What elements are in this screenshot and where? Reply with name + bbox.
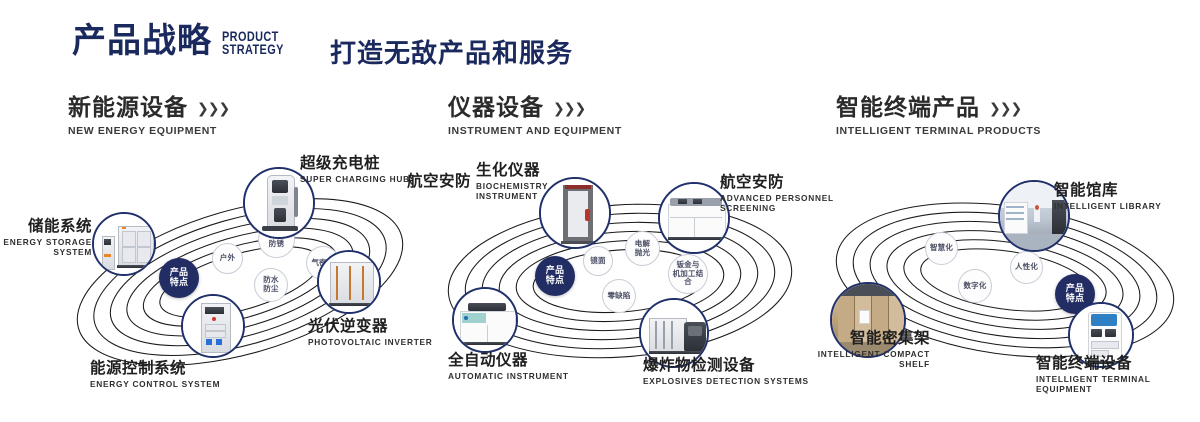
- chevron-right-icon: ❯❯❯: [989, 101, 1021, 115]
- chevron-right-icon: ❯❯❯: [197, 101, 229, 115]
- feature-bubble: 人性化: [1010, 251, 1043, 284]
- caption-energy-control-system: 能源控制系统 ENERGY CONTROL SYSTEM: [90, 360, 220, 389]
- caption-en: ENERGY CONTROL SYSTEM: [90, 379, 220, 389]
- feature-core-bubble: 产品 特点: [159, 258, 199, 298]
- section-title-en: INTELLIGENT TERMINAL PRODUCTS: [836, 125, 1041, 137]
- caption-en: INTELLIGENT COMPACT SHELF: [790, 349, 930, 369]
- section-title-cn: 新能源设备: [68, 96, 188, 120]
- node-energy-control-system[interactable]: [181, 294, 245, 358]
- caption-energy-storage: 储能系统 ENERGY STORAGE SYSTEM: [0, 218, 92, 257]
- caption-cn: 智能馆库: [1054, 182, 1162, 199]
- caption-cn: 生化仪器: [476, 162, 548, 179]
- feature-bubble: 零缺陷: [602, 279, 636, 313]
- feature-bubble: 户外: [212, 243, 243, 274]
- caption-super-charging-hub: 超级充电桩 SUPER CHARGING HUB: [300, 155, 410, 184]
- caption-cn: 储能系统: [0, 218, 92, 235]
- caption-intelligent-terminal-equipment: 智能终端设备 INTELLIGENT TERMINAL EQUIPMENT: [1036, 355, 1200, 394]
- node-photovoltaic-inverter[interactable]: [317, 250, 381, 314]
- poster-canvas: 产品战略 PRODUCT STRATEGY 打造无敌产品和服务 新能源设备 ❯❯…: [0, 0, 1200, 422]
- caption-cn: 智能终端设备: [1036, 355, 1200, 372]
- caption-cn: 光伏逆变器: [308, 318, 433, 335]
- feature-bubble: 电解 抛光: [625, 231, 660, 266]
- caption-cn: 超级充电桩: [300, 155, 410, 172]
- caption-en: INTELLIGENT TERMINAL EQUIPMENT: [1036, 374, 1200, 394]
- feature-bubble: 数字化: [958, 269, 992, 303]
- feature-bubble: 钣金与 机加工结合: [668, 254, 708, 294]
- caption-en: AUTOMATIC INSTRUMENT: [448, 371, 569, 381]
- caption-automatic-instrument: 全自动仪器 AUTOMATIC INSTRUMENT: [448, 352, 569, 381]
- screening-machine-icon: [660, 184, 728, 252]
- caption-intelligent-library: 智能馆库 INTELLIGENT LIBRARY: [1054, 182, 1162, 211]
- caption-en: SUPER CHARGING HUB: [300, 174, 410, 184]
- caption-en: ENERGY STORAGE SYSTEM: [0, 237, 92, 257]
- section-title-cn: 仪器设备: [448, 96, 544, 120]
- poster-header: 产品战略 PRODUCT STRATEGY: [72, 24, 301, 58]
- node-biochemistry-instrument[interactable]: [539, 177, 611, 249]
- feature-bubble: 智慧化: [925, 232, 958, 265]
- caption-cn: 爆炸物检测设备: [643, 357, 809, 374]
- caption-explosives-detection: 爆炸物检测设备 EXPLOSIVES DETECTION SYSTEMS: [643, 357, 809, 386]
- section-title-en: NEW ENERGY EQUIPMENT: [68, 125, 229, 137]
- caption-en: EXPLOSIVES DETECTION SYSTEMS: [643, 376, 809, 386]
- security-scanner-icon: [541, 179, 609, 247]
- caption-photovoltaic-inverter: 光伏逆变器 PHOTOVOLTAIC INVERTER: [308, 318, 433, 347]
- caption-en: INTELLIGENT LIBRARY: [1054, 201, 1162, 211]
- caption-aviation-security-left: 航空安防: [407, 173, 471, 190]
- section-title-instrument: 仪器设备 ❯❯❯ INSTRUMENT AND EQUIPMENT: [448, 96, 622, 137]
- page-title: 产品战略: [72, 24, 212, 58]
- caption-cn: 智能密集架: [790, 330, 930, 347]
- feature-bubble: 镜面: [583, 246, 613, 276]
- caption-en: BIOCHEMISTRY INSTRUMENT: [476, 181, 548, 201]
- node-automatic-instrument[interactable]: [452, 287, 518, 353]
- section-title-cn: 智能终端产品: [836, 96, 980, 120]
- node-energy-storage[interactable]: [92, 212, 156, 276]
- caption-cn: 能源控制系统: [90, 360, 220, 377]
- section-title-en: INSTRUMENT AND EQUIPMENT: [448, 125, 622, 137]
- caption-cn: 全自动仪器: [448, 352, 569, 369]
- caption-en: PHOTOVOLTAIC INVERTER: [308, 337, 433, 347]
- inverter-cabinet-icon: [319, 252, 379, 312]
- chevron-right-icon: ❯❯❯: [553, 101, 585, 115]
- energy-storage-cabinet-icon: [94, 214, 154, 274]
- caption-biochemistry-instrument: 生化仪器 BIOCHEMISTRY INSTRUMENT: [476, 162, 548, 201]
- caption-intelligent-compact-shelf: 智能密集架 INTELLIGENT COMPACT SHELF: [790, 330, 930, 369]
- control-cabinet-icon: [183, 296, 243, 356]
- page-title-english: PRODUCT STRATEGY: [222, 30, 284, 56]
- page-subtitle: 打造无敌产品和服务: [330, 33, 573, 70]
- feature-core-bubble: 产品 特点: [535, 256, 575, 296]
- auto-analyzer-icon: [454, 289, 516, 351]
- section-title-new-energy: 新能源设备 ❯❯❯ NEW ENERGY EQUIPMENT: [68, 96, 229, 137]
- feature-bubble: 防水 防尘: [254, 268, 288, 302]
- caption-cn: 航空安防: [407, 173, 471, 190]
- section-title-intelligent-terminal: 智能终端产品 ❯❯❯ INTELLIGENT TERMINAL PRODUCTS: [836, 96, 1041, 137]
